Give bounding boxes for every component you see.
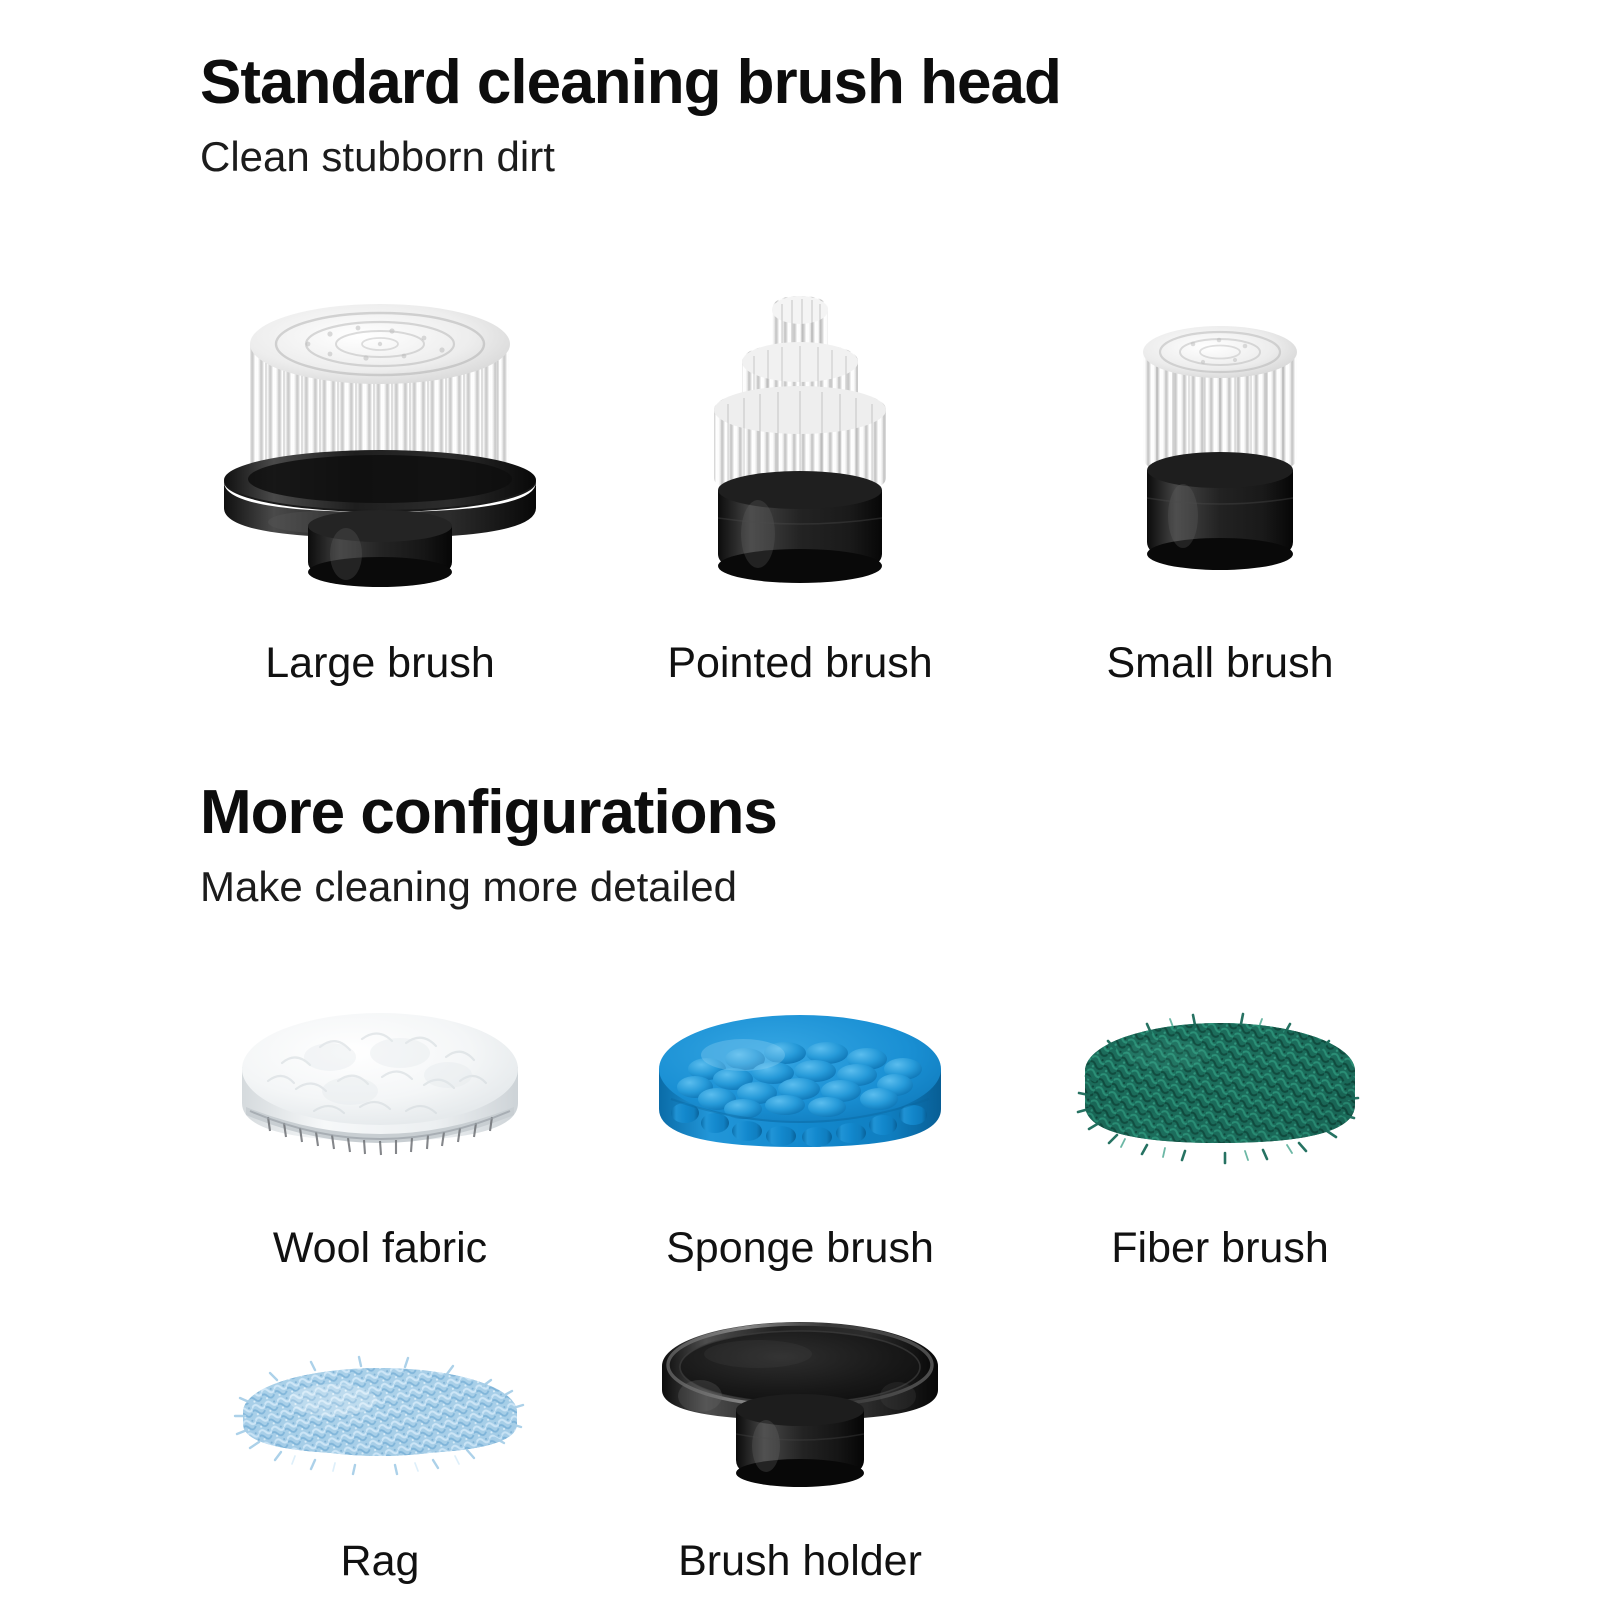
product-row-standard: Large brush <box>0 256 1600 685</box>
fiber-pad-icon <box>1055 995 1385 1175</box>
small-brush-illustration <box>1085 256 1355 586</box>
product-item-large-brush[interactable]: Large brush <box>170 256 590 685</box>
section-subheading: Clean stubborn dirt <box>200 132 1600 182</box>
product-item-pointed-brush[interactable]: Pointed brush <box>590 256 1010 685</box>
pointed-brush-icon <box>650 286 950 586</box>
product-item-small-brush[interactable]: Small brush <box>1010 256 1430 685</box>
product-row-configurations-1: Wool fabric <box>0 975 1600 1270</box>
rag-illustration <box>215 1300 545 1500</box>
product-item-wool-fabric[interactable]: Wool fabric <box>170 975 590 1270</box>
product-label: Small brush <box>1106 642 1333 685</box>
rag-pad-icon <box>215 1320 545 1500</box>
wool-fabric-illustration <box>210 975 550 1175</box>
section-standard-header: Standard cleaning brush head Clean stubb… <box>0 50 1600 182</box>
fiber-brush-illustration <box>1055 975 1385 1175</box>
small-brush-icon <box>1085 286 1355 586</box>
product-item-brush-holder[interactable]: Brush holder <box>590 1300 1010 1583</box>
product-label: Fiber brush <box>1111 1227 1328 1270</box>
section-heading: Standard cleaning brush head <box>200 50 1600 116</box>
product-label: Pointed brush <box>667 642 932 685</box>
product-item-sponge-brush[interactable]: Sponge brush <box>590 975 1010 1270</box>
product-row-configurations-2: Rag <box>0 1300 1600 1583</box>
section-subheading: Make cleaning more detailed <box>200 862 1600 912</box>
product-item-rag[interactable]: Rag <box>170 1300 590 1583</box>
large-brush-illustration <box>180 256 580 586</box>
product-label: Large brush <box>265 642 495 685</box>
wool-pad-icon <box>210 995 550 1175</box>
product-item-fiber-brush[interactable]: Fiber brush <box>1010 975 1430 1270</box>
product-label: Wool fabric <box>273 1227 487 1270</box>
section-configurations-header: More configurations Make cleaning more d… <box>0 780 1600 912</box>
brush-holder-icon <box>630 1310 970 1500</box>
large-brush-icon <box>180 286 580 586</box>
product-label: Rag <box>341 1540 420 1583</box>
sponge-pad-icon <box>635 995 965 1175</box>
infographic-page: Standard cleaning brush head Clean stubb… <box>0 0 1600 1600</box>
product-label: Brush holder <box>678 1540 922 1583</box>
sponge-brush-illustration <box>635 975 965 1175</box>
section-heading: More configurations <box>200 780 1600 846</box>
pointed-brush-illustration <box>650 256 950 586</box>
product-label: Sponge brush <box>666 1227 934 1270</box>
brush-holder-illustration <box>630 1300 970 1500</box>
